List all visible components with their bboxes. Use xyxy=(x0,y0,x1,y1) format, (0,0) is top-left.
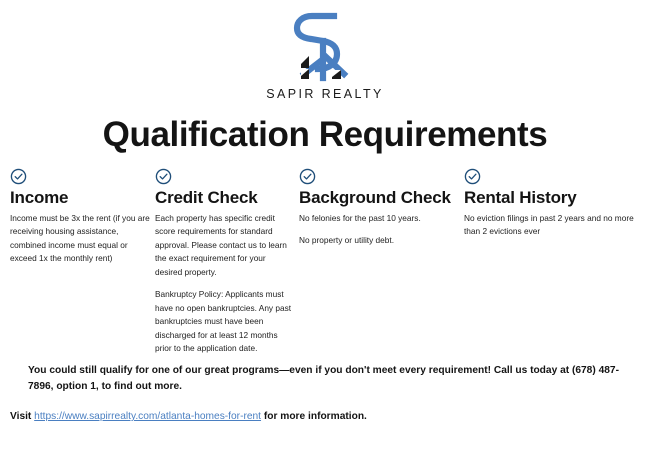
requirement-heading: Background Check xyxy=(299,188,459,208)
requirement-paragraph: Each property has specific credit score … xyxy=(155,212,295,279)
requirement-column-credit-check: Credit Check Each property has specific … xyxy=(155,168,295,355)
requirement-paragraph: Income must be 3x the rent (if you are r… xyxy=(10,212,150,266)
requirement-paragraph-bankruptcy: Bankruptcy Policy: Applicants must have … xyxy=(155,288,295,355)
visit-suffix-label: for more information. xyxy=(261,411,367,422)
brand-logo-block: SAPIR REALTY xyxy=(0,0,650,101)
sapir-realty-website-link[interactable]: https://www.sapirrealty.com/atlanta-home… xyxy=(34,411,261,422)
brand-wordmark: SAPIR REALTY xyxy=(266,87,383,101)
check-circle-icon xyxy=(155,168,172,185)
requirement-heading: Income xyxy=(10,188,150,208)
footer-callout: You could still qualify for one of our g… xyxy=(28,363,620,396)
requirement-paragraph: No felonies for the past 10 years. xyxy=(299,212,459,225)
requirement-heading: Credit Check xyxy=(155,188,295,208)
footer-visit-line: Visit https://www.sapirrealty.com/atlant… xyxy=(10,411,630,422)
sapir-realty-sr-monogram-icon xyxy=(282,12,368,86)
check-circle-icon xyxy=(464,168,481,185)
visit-prefix-label: Visit xyxy=(10,411,34,422)
requirement-paragraph-debt: No property or utility debt. xyxy=(299,234,459,247)
check-circle-icon xyxy=(10,168,27,185)
requirement-heading: Rental History xyxy=(464,188,640,208)
requirement-column-rental-history: Rental History No eviction filings in pa… xyxy=(464,168,640,239)
check-circle-icon xyxy=(299,168,316,185)
requirement-paragraph: No eviction filings in past 2 years and … xyxy=(464,212,640,239)
page-title: Qualification Requirements xyxy=(0,115,650,155)
requirement-column-income: Income Income must be 3x the rent (if yo… xyxy=(10,168,150,266)
requirement-column-background-check: Background Check No felonies for the pas… xyxy=(299,168,459,248)
